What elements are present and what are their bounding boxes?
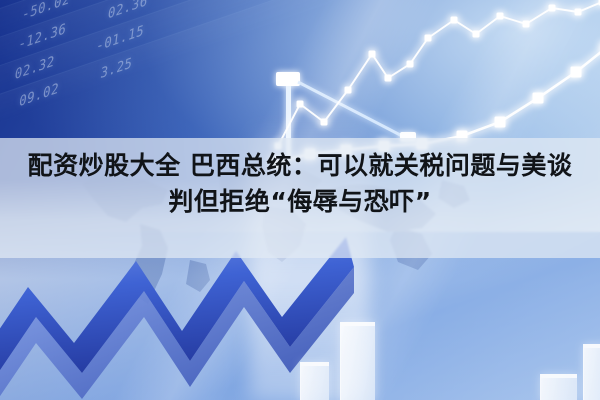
chart-node	[451, 17, 458, 24]
chart-node	[425, 35, 432, 42]
chart-node	[321, 119, 328, 126]
chart-node	[571, 67, 582, 78]
bar-chart-bar	[540, 374, 577, 400]
chart-node	[497, 13, 504, 20]
chart-node	[297, 101, 304, 108]
headline-line-2: 判但拒绝“侮辱与恐吓”	[0, 184, 600, 220]
bar-chart-bar	[300, 362, 329, 400]
headline-line-1: 配资炒股大全 巴西总统：可以就关税问题与美谈	[28, 151, 573, 180]
chart-node	[533, 93, 544, 104]
chart-node	[549, 5, 556, 12]
chart-node	[407, 61, 414, 68]
ticker-value: 3.25	[100, 55, 134, 83]
bar-chart-bars	[0, 280, 600, 400]
bar-chart-bar	[340, 322, 375, 400]
bar-chart-bar	[583, 344, 600, 400]
chart-node	[385, 75, 392, 82]
page-title: 配资炒股大全 巴西总统：可以就关税问题与美谈 判但拒绝“侮辱与恐吓”	[0, 148, 600, 220]
chart-node	[523, 21, 530, 28]
ticker-value: 09.02	[18, 80, 60, 110]
chart-node	[473, 31, 480, 38]
chart-node	[495, 117, 506, 128]
chart-node	[345, 87, 352, 94]
chart-node	[575, 9, 582, 16]
chart-node	[369, 51, 376, 58]
banner-image: -05.022.3521.3645.02-02.35-06.0209.354.3…	[0, 0, 600, 400]
